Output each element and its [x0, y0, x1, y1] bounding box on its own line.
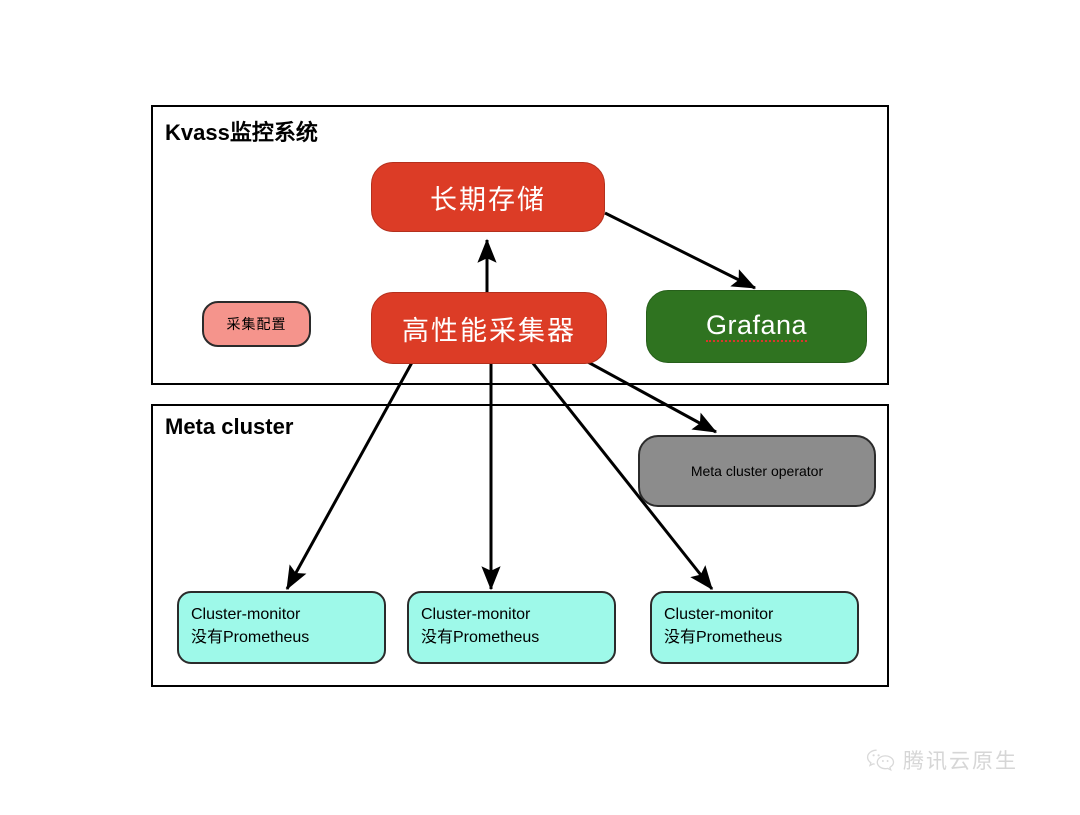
node-collector[interactable]: 高性能采集器	[371, 292, 607, 364]
node-cluster-monitor-1-text: Cluster-monitor 没有Prometheus	[191, 604, 309, 649]
node-cluster-monitor-1-line2: 没有Prometheus	[191, 627, 309, 650]
watermark: 腾讯云原生	[866, 745, 1018, 775]
node-cluster-monitor-1-line1: Cluster-monitor	[191, 606, 300, 623]
node-cluster-monitor-2-text: Cluster-monitor 没有Prometheus	[421, 604, 539, 649]
node-long-term-storage-label: 长期存储	[430, 178, 546, 217]
node-grafana-label: Grafana	[706, 311, 807, 342]
node-cluster-monitor-2-line1: Cluster-monitor	[421, 606, 530, 623]
diagram-canvas: Kvass监控系统 Meta cluster 长期存储 高性能采集器 Grafa…	[0, 0, 1080, 815]
node-meta-cluster-operator[interactable]: Meta cluster operator	[638, 435, 876, 507]
node-cluster-monitor-3-line1: Cluster-monitor	[664, 606, 773, 623]
group-label-meta-cluster: Meta cluster	[165, 414, 293, 440]
node-meta-cluster-operator-label: Meta cluster operator	[691, 463, 823, 479]
node-scrape-config-label: 采集配置	[227, 314, 287, 334]
node-cluster-monitor-2[interactable]: Cluster-monitor 没有Prometheus	[407, 591, 616, 664]
node-cluster-monitor-3-text: Cluster-monitor 没有Prometheus	[664, 604, 782, 649]
node-cluster-monitor-1[interactable]: Cluster-monitor 没有Prometheus	[177, 591, 386, 664]
wechat-icon	[866, 748, 896, 772]
node-cluster-monitor-3[interactable]: Cluster-monitor 没有Prometheus	[650, 591, 859, 664]
node-cluster-monitor-2-line2: 没有Prometheus	[421, 627, 539, 650]
node-collector-label: 高性能采集器	[402, 309, 576, 348]
group-label-kvass: Kvass监控系统	[165, 115, 318, 147]
node-grafana[interactable]: Grafana	[646, 290, 867, 363]
watermark-text: 腾讯云原生	[903, 745, 1018, 775]
node-scrape-config[interactable]: 采集配置	[202, 301, 311, 347]
node-cluster-monitor-3-line2: 没有Prometheus	[664, 627, 782, 650]
node-long-term-storage[interactable]: 长期存储	[371, 162, 605, 232]
